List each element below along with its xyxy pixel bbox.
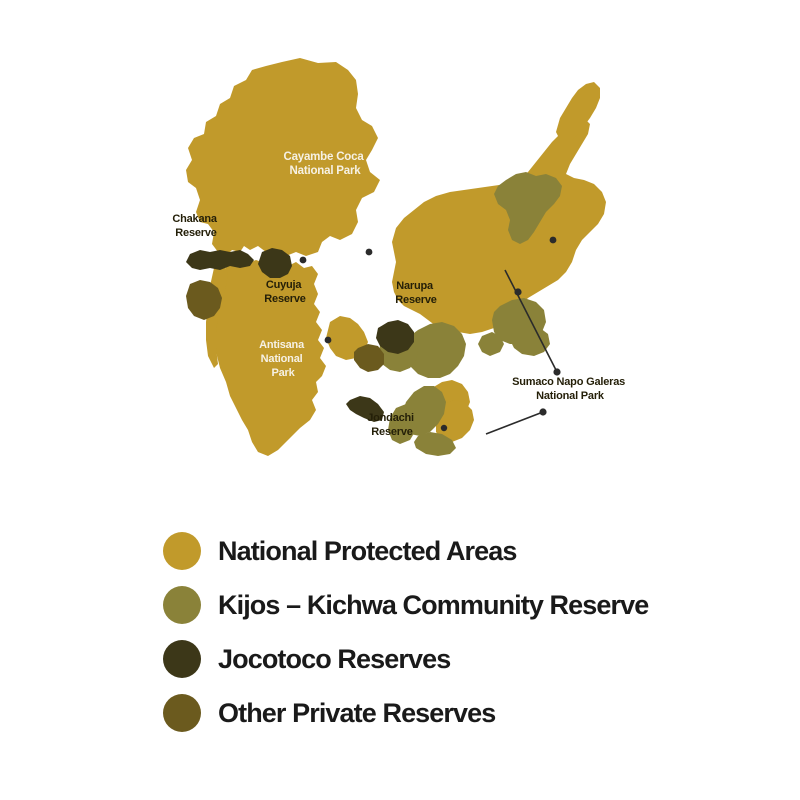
label-line: National Park	[290, 165, 362, 177]
leader-line-sumaco-lower	[486, 412, 543, 434]
label-line: Cuyuja	[266, 279, 303, 291]
legend-item-other-private-reserves[interactable]: Other Private Reserves	[163, 686, 763, 740]
label-line: Reserve	[175, 227, 216, 239]
kijos-patch-east-island[interactable]	[510, 326, 550, 356]
label-line: Park	[271, 367, 295, 379]
legend-item-jocotoco-reserves[interactable]: Jocotoco Reserves	[163, 632, 763, 686]
label-line: Antisana	[259, 339, 305, 351]
legend-item-label: Other Private Reserves	[218, 700, 495, 727]
map-label-sumaco-napo-galeras-national-park: Sumaco Napo Galeras National Park	[512, 376, 628, 402]
label-line: Reserve	[264, 293, 305, 305]
label-line: Chakana	[172, 213, 218, 225]
jocotoco-chakana-reserve[interactable]	[186, 250, 254, 270]
legend-swatch-icon	[163, 694, 201, 732]
legend-swatch-icon	[163, 586, 201, 624]
legend-swatch-icon	[163, 532, 201, 570]
map-page: Cayambe Coca National Park Chakana Reser…	[0, 0, 800, 800]
legend-item-label: Kijos – Kichwa Community Reserve	[218, 592, 648, 619]
legend-item-label: National Protected Areas	[218, 538, 517, 565]
map-legend: National Protected Areas Kijos – Kichwa …	[163, 524, 763, 740]
label-line: Reserve	[395, 294, 436, 306]
map-dot-cuyuja	[300, 257, 307, 264]
label-line: Reserve	[371, 426, 412, 438]
map-dot-centre-north	[366, 249, 373, 256]
map-dot-sumaco-label-upper	[553, 368, 560, 375]
label-line: National	[261, 353, 303, 365]
legend-item-label: Jocotoco Reserves	[218, 646, 450, 673]
private-reserve-narupa-south[interactable]	[354, 344, 384, 372]
map-svg: Cayambe Coca National Park Chakana Reser…	[0, 0, 800, 500]
map-dot-lower-mid	[441, 425, 447, 431]
map-dot-north-east	[550, 237, 557, 244]
legend-item-kijos-kichwa[interactable]: Kijos – Kichwa Community Reserve	[163, 578, 763, 632]
map-figure: Cayambe Coca National Park Chakana Reser…	[0, 0, 800, 500]
label-line: National Park	[536, 390, 605, 402]
label-line: Sumaco Napo Galeras	[512, 376, 625, 388]
map-dot-sumaco-upper	[514, 288, 521, 295]
kijos-patch-lower-left[interactable]	[388, 404, 418, 444]
label-line: Narupa	[396, 280, 434, 292]
map-dot-antisana	[325, 337, 332, 344]
legend-item-national-protected-areas[interactable]: National Protected Areas	[163, 524, 763, 578]
label-line: Cayambe Coca	[283, 151, 364, 163]
map-dot-sumaco-label-lower	[539, 408, 546, 415]
legend-swatch-icon	[163, 640, 201, 678]
label-line: Jondachi	[367, 412, 414, 424]
